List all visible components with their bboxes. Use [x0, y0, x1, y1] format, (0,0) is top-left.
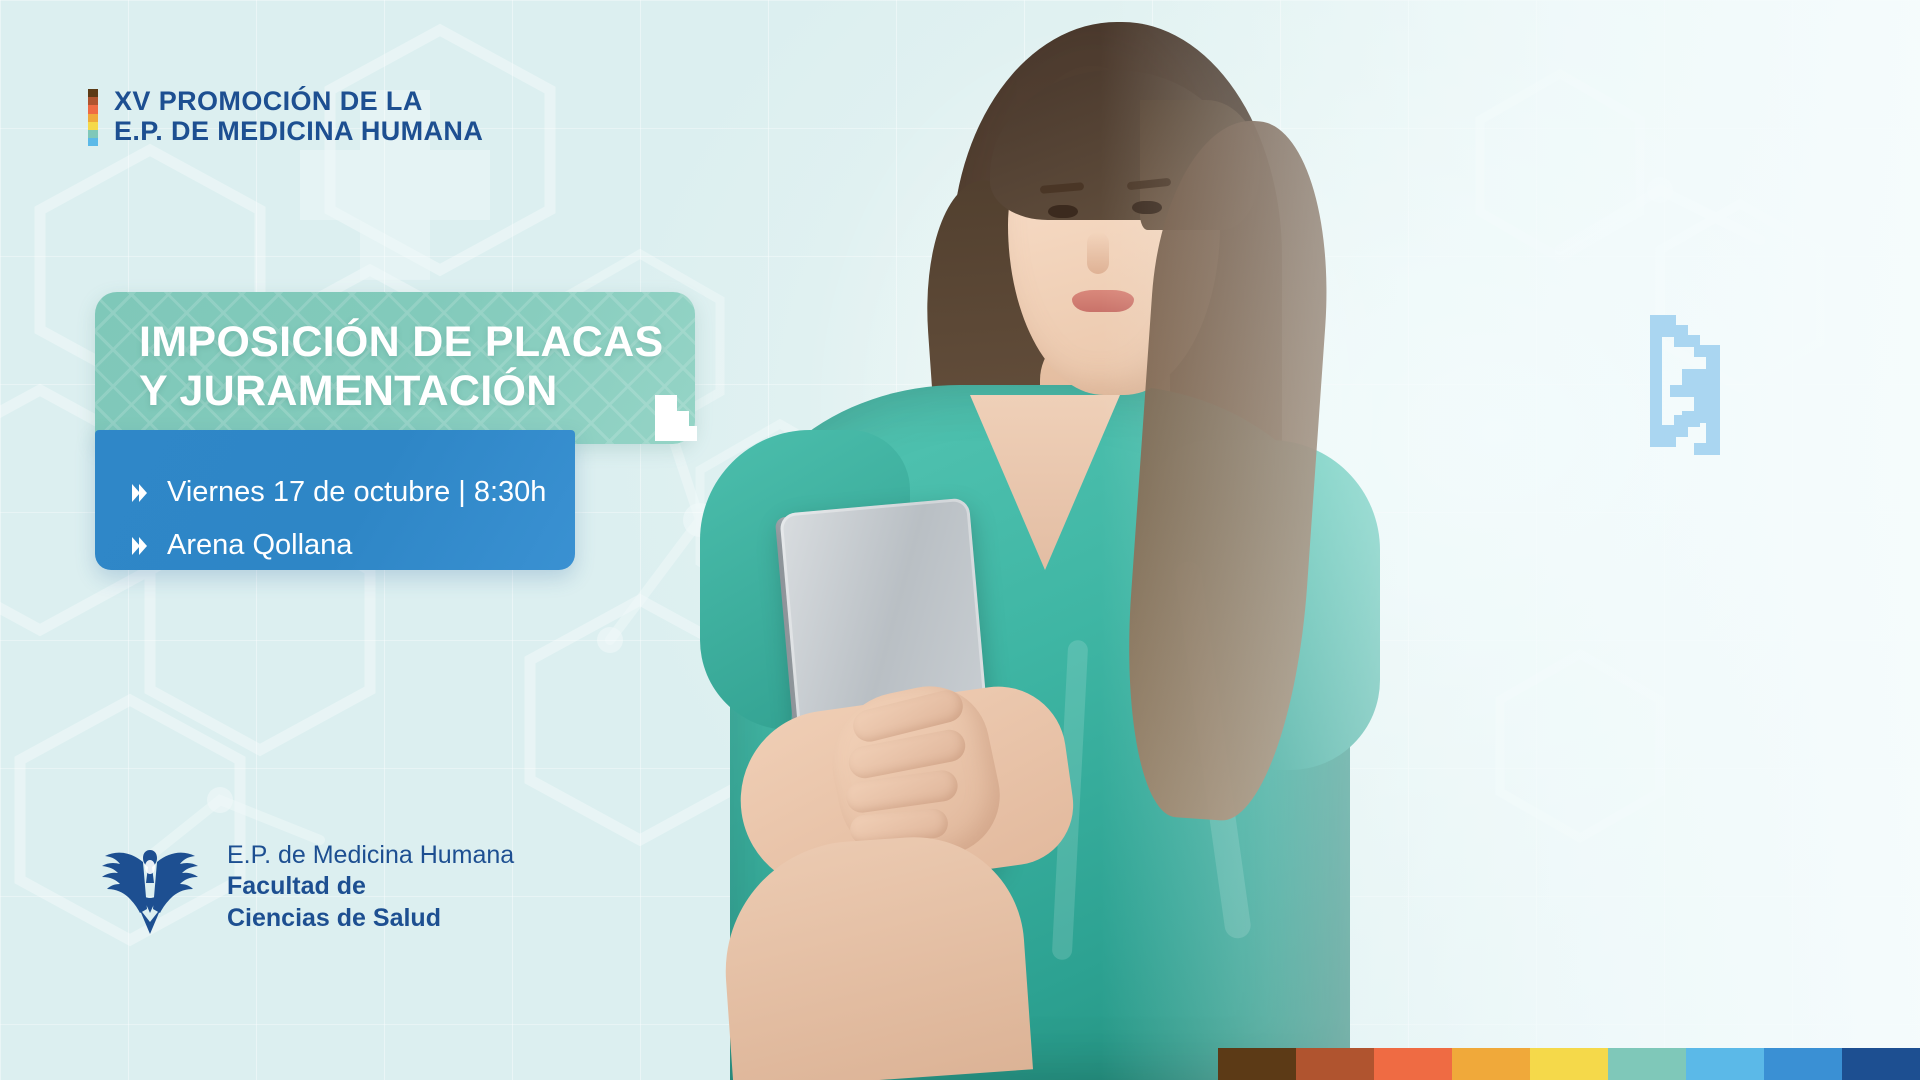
double-chevron-icon [131, 535, 149, 557]
background-right-fade [1100, 0, 1920, 1080]
header-line-1: XV PROMOCIÓN DE LA [114, 86, 483, 116]
header-line-2: E.P. DE MEDICINA HUMANA [114, 116, 483, 146]
event-detail-row: Arena Qollana [131, 531, 575, 560]
logo-line-3: Ciencias de Salud [227, 903, 514, 935]
event-title: IMPOSICIÓN DE PLACAS Y JURAMENTACIÓN [139, 318, 679, 415]
color-block [1764, 1048, 1842, 1080]
logo-line-1: E.P. de Medicina Humana [227, 840, 514, 872]
double-chevron-icon [131, 482, 149, 504]
color-block [1374, 1048, 1452, 1080]
title-banner: IMPOSICIÓN DE PLACAS Y JURAMENTACIÓN [95, 292, 695, 444]
poster-stage: XV PROMOCIÓN DE LA E.P. DE MEDICINA HUMA… [0, 0, 1920, 1080]
stepped-spiral-icon [1638, 305, 1758, 465]
event-venue: Arena Qollana [167, 531, 352, 560]
color-block [1296, 1048, 1374, 1080]
logo-line-2: Facultad de [227, 871, 514, 903]
institution-logo: E.P. de Medicina Humana Facultad de Cien… [95, 832, 514, 942]
color-block [1218, 1048, 1296, 1080]
header: XV PROMOCIÓN DE LA E.P. DE MEDICINA HUMA… [88, 86, 483, 146]
event-details-box: Viernes 17 de octubre | 8:30h Arena Qoll… [95, 430, 575, 570]
condor-eagle-icon [95, 832, 205, 942]
institution-name: E.P. de Medicina Humana Facultad de Cien… [227, 840, 514, 935]
header-color-bar [88, 89, 98, 146]
color-block [1452, 1048, 1530, 1080]
color-block [1842, 1048, 1920, 1080]
title-step-decoration [655, 395, 697, 441]
color-block [1608, 1048, 1686, 1080]
event-date-time: Viernes 17 de octubre | 8:30h [167, 478, 546, 507]
color-block [1530, 1048, 1608, 1080]
brand-color-strip [1218, 1048, 1920, 1080]
title-line-2: Y JURAMENTACIÓN [139, 367, 679, 416]
event-detail-row: Viernes 17 de octubre | 8:30h [131, 478, 575, 507]
header-text: XV PROMOCIÓN DE LA E.P. DE MEDICINA HUMA… [114, 86, 483, 146]
eye-left [1048, 205, 1078, 218]
title-line-1: IMPOSICIÓN DE PLACAS [139, 318, 679, 367]
color-block [1686, 1048, 1764, 1080]
